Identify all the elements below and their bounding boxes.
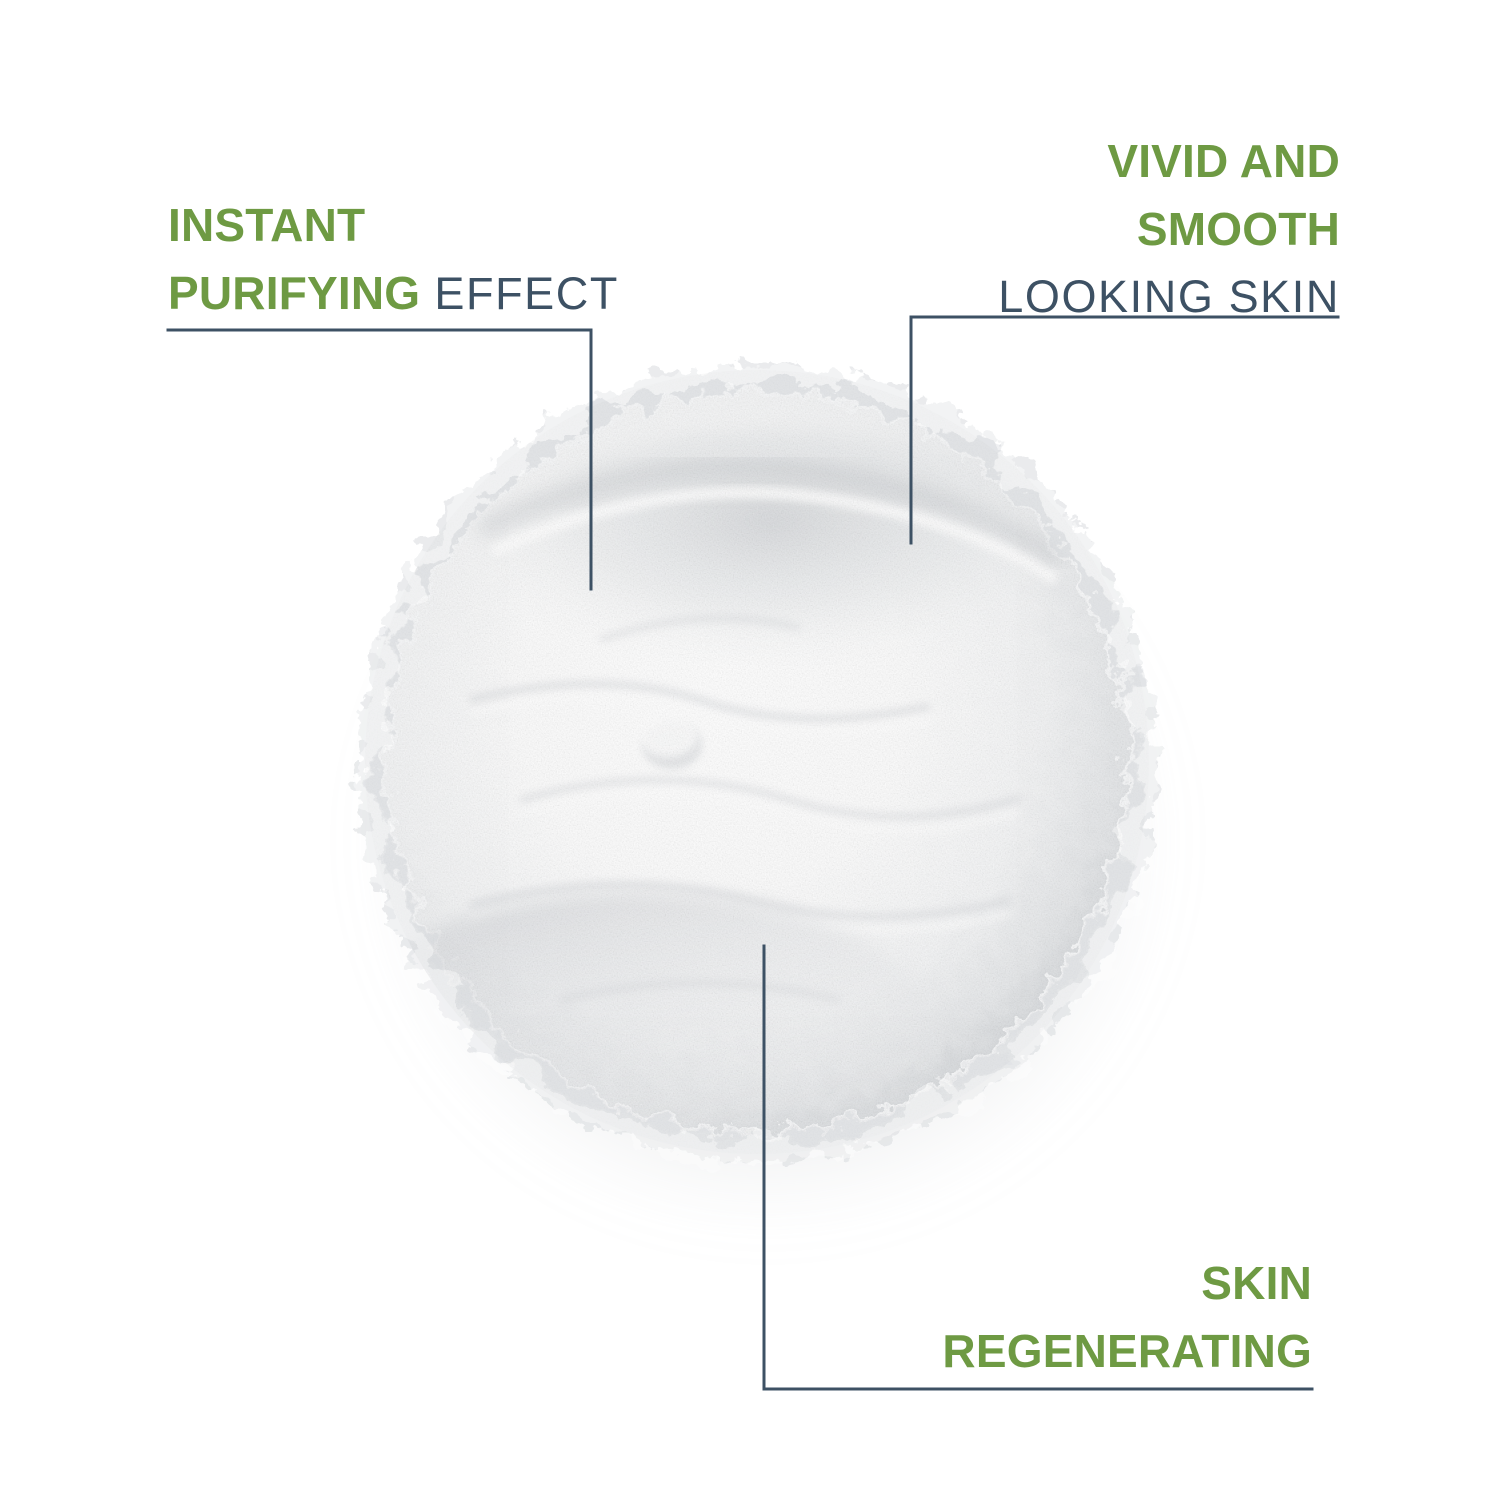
callout-vivid-smooth-looking-skin: VIVID AND SMOOTH LOOKING SKIN bbox=[998, 122, 1340, 335]
callout-vivid-line-3: LOOKING SKIN bbox=[998, 271, 1340, 322]
callout-vivid-line-1: VIVID AND bbox=[1107, 135, 1340, 187]
callout-instant-line-2-strong: PURIFYING bbox=[168, 267, 420, 319]
callout-skin-regenerating: SKIN REGENERATING bbox=[942, 1244, 1312, 1390]
infographic-canvas: INSTANT PURIFYING EFFECT VIVID AND SMOOT… bbox=[0, 0, 1500, 1500]
callout-instant-row-1: INSTANT bbox=[168, 202, 619, 248]
callout-regen-row-1: SKIN bbox=[942, 1260, 1312, 1306]
callout-instant-line-2-light: EFFECT bbox=[420, 268, 619, 319]
callout-regen-line-2: REGENERATING bbox=[942, 1325, 1312, 1377]
leader-line-vivid-smooth bbox=[911, 317, 1338, 543]
callout-vivid-row-3: LOOKING SKIN bbox=[998, 274, 1340, 319]
callout-instant-purifying-effect: INSTANT PURIFYING EFFECT bbox=[168, 186, 619, 332]
leader-line-instant-purifying bbox=[168, 330, 591, 589]
callout-instant-line-1: INSTANT bbox=[168, 199, 365, 251]
callout-instant-row-2: PURIFYING EFFECT bbox=[168, 270, 619, 316]
callout-vivid-row-1: VIVID AND bbox=[998, 138, 1340, 184]
callout-regen-line-1: SKIN bbox=[1201, 1257, 1312, 1309]
callout-regen-row-2: REGENERATING bbox=[942, 1328, 1312, 1374]
callout-vivid-line-2: SMOOTH bbox=[1137, 203, 1340, 255]
callout-vivid-row-2: SMOOTH bbox=[998, 206, 1340, 252]
